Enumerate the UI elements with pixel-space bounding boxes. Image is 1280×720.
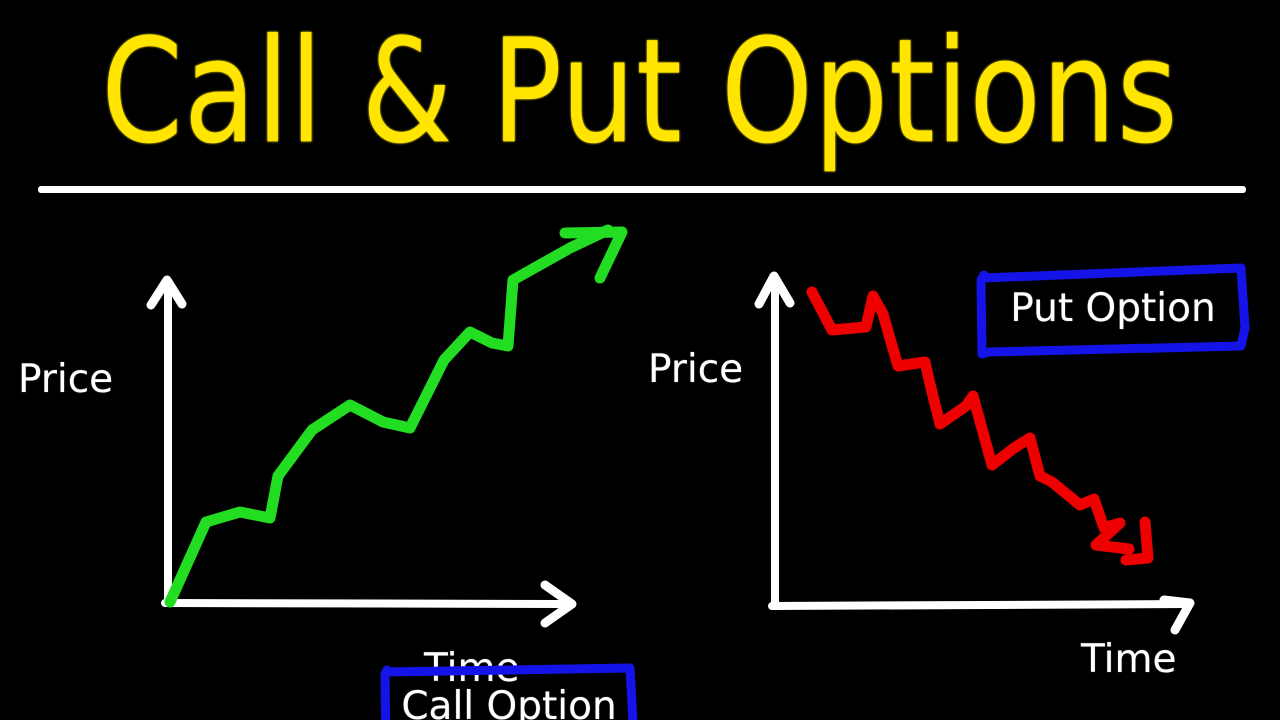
y-axis-call: [151, 280, 182, 603]
price-line-call: [170, 230, 622, 602]
chart-call-option-graphic: [0, 200, 640, 720]
title-divider: [38, 186, 1246, 193]
x-axis-put: [772, 600, 1190, 630]
chart-put-option: Price Time Put Option: [640, 200, 1280, 720]
page-title: Call & Put Options: [6, 6, 1273, 177]
callout-put-option-label: Put Option: [1010, 287, 1215, 331]
y-axis-label-call: Price: [18, 358, 113, 402]
y-axis-put: [759, 276, 790, 606]
callout-call-option[interactable]: Call Option: [378, 658, 640, 720]
callout-call-option-label: Call Option: [401, 685, 616, 720]
x-axis-label-put: Time: [1081, 638, 1176, 682]
callout-put-option[interactable]: Put Option: [973, 260, 1253, 358]
y-axis-label-put: Price: [648, 348, 743, 392]
slide-canvas: Call & Put Options Price Time: [0, 0, 1280, 720]
x-axis-call: [165, 585, 572, 623]
chart-call-option: Price Time Call Option: [0, 200, 640, 720]
